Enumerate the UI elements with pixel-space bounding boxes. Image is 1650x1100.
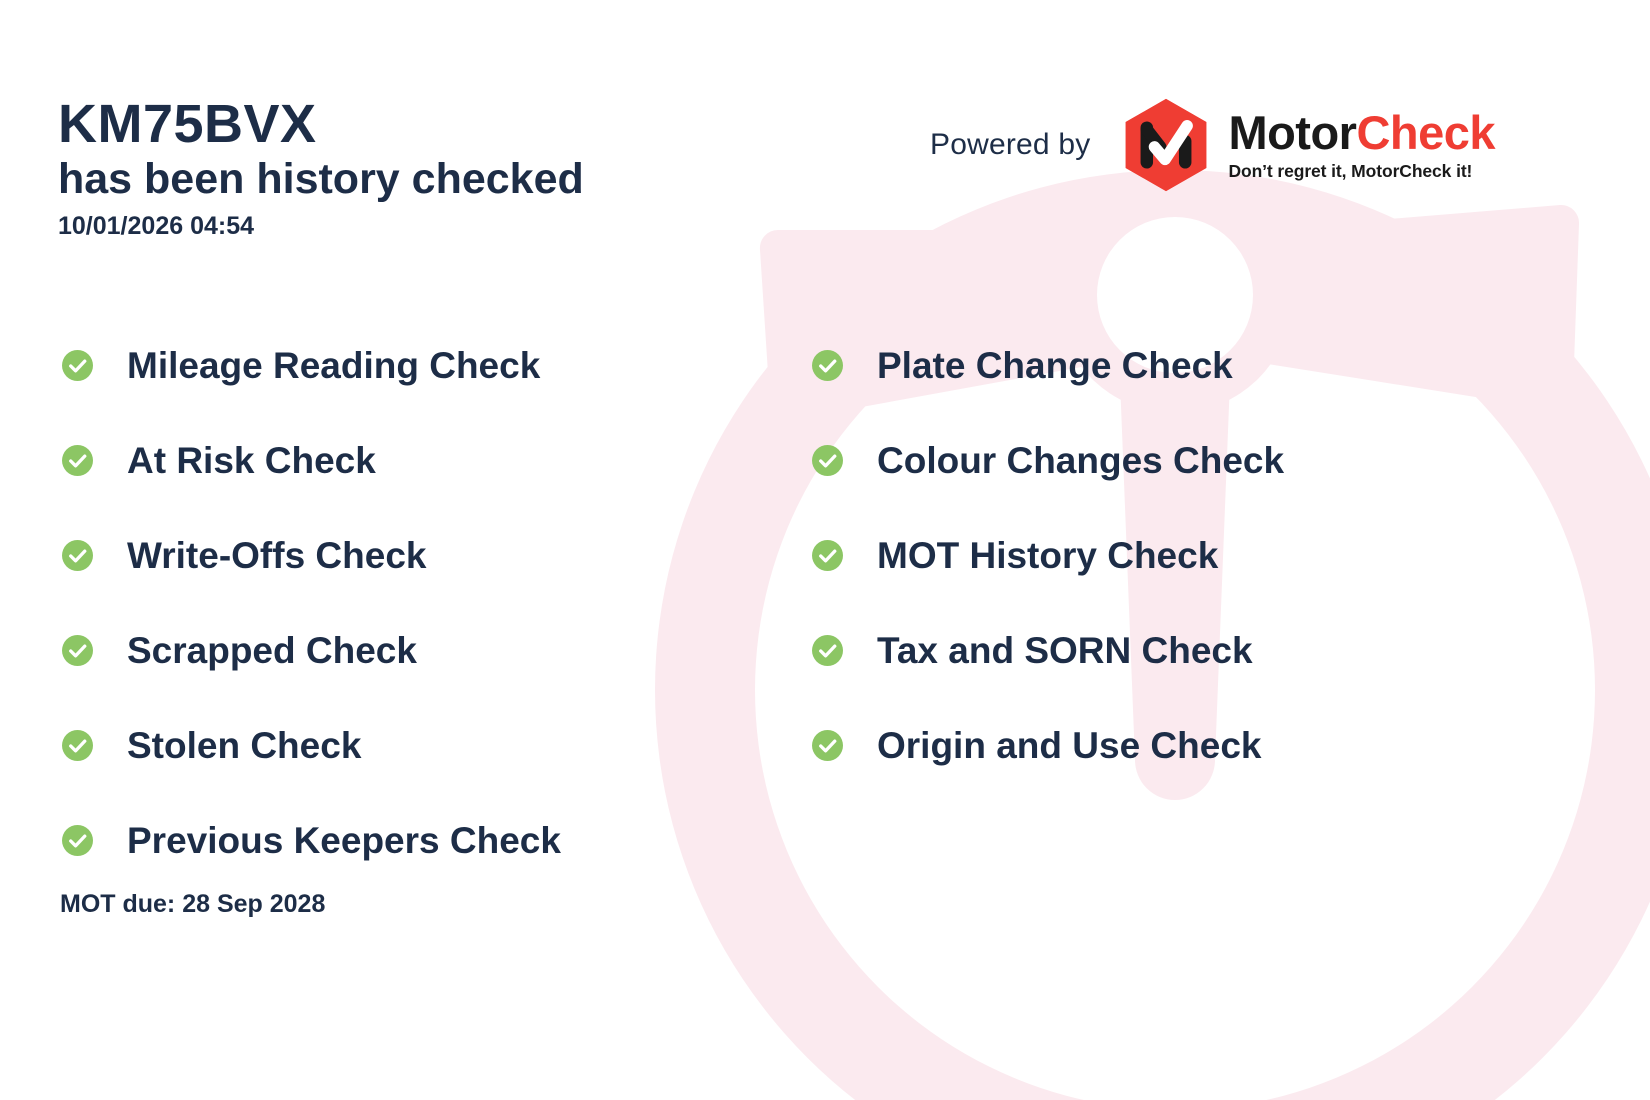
- check-item-label: At Risk Check: [127, 442, 376, 479]
- check-item-label: Tax and SORN Check: [877, 632, 1253, 669]
- page-title: has been history checked: [58, 155, 584, 203]
- check-item: Previous Keepers Check: [62, 793, 561, 888]
- checklist-right-column: Plate Change Check Colour Changes Check …: [812, 318, 1284, 793]
- check-item: Scrapped Check: [62, 603, 561, 698]
- brand-tagline: Don’t regret it, MotorCheck it!: [1228, 161, 1495, 182]
- green-check-circle-icon: [812, 540, 843, 571]
- header: KM75BVX has been history checked 10/01/2…: [58, 96, 584, 241]
- motorcheck-wordmark: MotorCheck: [1228, 109, 1495, 156]
- check-item: Origin and Use Check: [812, 698, 1284, 793]
- motorcheck-wordmark-block: MotorCheck Don’t regret it, MotorCheck i…: [1228, 109, 1495, 182]
- mot-due-date: MOT due: 28 Sep 2028: [60, 890, 325, 919]
- green-check-circle-icon: [812, 730, 843, 761]
- vehicle-history-check-card: KM75BVX has been history checked 10/01/2…: [0, 0, 1650, 1100]
- check-item: Stolen Check: [62, 698, 561, 793]
- check-item: Write-Offs Check: [62, 508, 561, 603]
- check-item-label: Plate Change Check: [877, 347, 1233, 384]
- checklist-left-column: Mileage Reading Check At Risk Check Writ…: [62, 318, 561, 888]
- vehicle-registration-plate: KM75BVX: [58, 96, 584, 153]
- check-item-label: Mileage Reading Check: [127, 347, 540, 384]
- check-item: Mileage Reading Check: [62, 318, 561, 413]
- wordmark-motor: Motor: [1228, 106, 1356, 159]
- check-item-label: Scrapped Check: [127, 632, 417, 669]
- check-item-label: Origin and Use Check: [877, 727, 1262, 764]
- green-check-circle-icon: [62, 350, 93, 381]
- check-item-label: Colour Changes Check: [877, 442, 1284, 479]
- powered-by-label: Powered by: [930, 128, 1090, 162]
- green-check-circle-icon: [812, 445, 843, 476]
- green-check-circle-icon: [62, 540, 93, 571]
- green-check-circle-icon: [812, 635, 843, 666]
- check-item-label: MOT History Check: [877, 537, 1218, 574]
- check-item: At Risk Check: [62, 413, 561, 508]
- motorcheck-hexagon-logo-icon: [1118, 97, 1214, 193]
- check-item: Tax and SORN Check: [812, 603, 1284, 698]
- check-item-label: Stolen Check: [127, 727, 361, 764]
- check-item: MOT History Check: [812, 508, 1284, 603]
- powered-by-brand: Powered by MotorCheck Don’t regret it, M…: [930, 97, 1495, 193]
- green-check-circle-icon: [812, 350, 843, 381]
- check-item-label: Previous Keepers Check: [127, 822, 561, 859]
- wordmark-check: Check: [1356, 106, 1495, 159]
- check-item: Colour Changes Check: [812, 413, 1284, 508]
- green-check-circle-icon: [62, 445, 93, 476]
- green-check-circle-icon: [62, 825, 93, 856]
- check-item-label: Write-Offs Check: [127, 537, 427, 574]
- green-check-circle-icon: [62, 730, 93, 761]
- green-check-circle-icon: [62, 635, 93, 666]
- check-item: Plate Change Check: [812, 318, 1284, 413]
- check-timestamp: 10/01/2026 04:54: [58, 212, 584, 241]
